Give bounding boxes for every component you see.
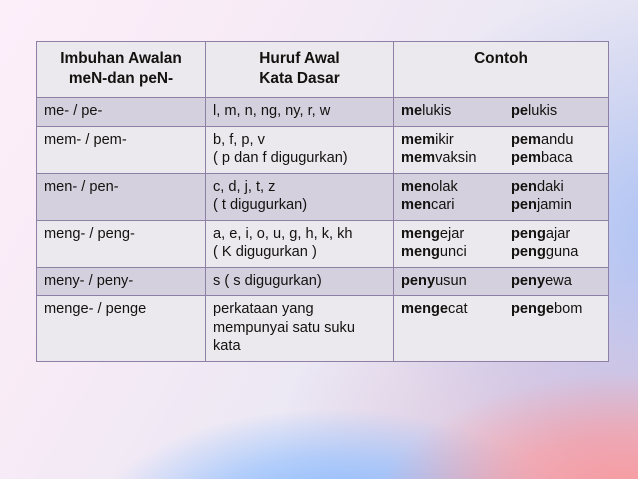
example-stem: olak xyxy=(431,179,458,195)
example-prefix-bold: peng xyxy=(511,244,546,260)
example-prefix-bold: meng xyxy=(401,244,440,260)
example-prefix-bold: meng xyxy=(401,226,440,242)
cell-letters: b, f, p, v ( p dan f digugurkan) xyxy=(206,126,394,173)
letters-line: b, f, p, v xyxy=(213,131,386,150)
example-men-form: melukis xyxy=(401,102,501,121)
example-prefix-bold: pen xyxy=(511,179,537,195)
example-stem: bom xyxy=(554,301,582,317)
example-row: mengunci pengguna xyxy=(401,243,601,262)
column-header-line-1: Contoh xyxy=(401,49,601,69)
example-pen-form: pengajar xyxy=(501,225,601,244)
slide-canvas: Imbuhan Awalan meN-dan peN- Huruf Awal K… xyxy=(0,0,638,479)
cell-examples: menolak pendaki mencari penjamin xyxy=(394,173,609,220)
letters-line: c, d, j, t, z xyxy=(213,178,386,197)
cell-letters: a, e, i, o, u, g, h, k, kh ( K digugurka… xyxy=(206,220,394,267)
examples-grid: mengecat pengebom xyxy=(401,300,601,319)
table-header: Imbuhan Awalan meN-dan peN- Huruf Awal K… xyxy=(37,42,609,98)
example-prefix-bold: pe xyxy=(511,103,528,119)
example-prefix-bold: peny xyxy=(401,273,435,289)
example-prefix-bold: menge xyxy=(401,301,448,317)
example-men-form: menolak xyxy=(401,178,501,197)
example-stem: jamin xyxy=(537,197,572,213)
letters-note: ( p dan f digugurkan) xyxy=(213,149,386,168)
example-prefix-bold: mem xyxy=(401,132,435,148)
column-header-huruf-awal: Huruf Awal Kata Dasar xyxy=(206,42,394,98)
example-row: memvaksin pembaca xyxy=(401,149,601,168)
cell-prefix: men- / pen- xyxy=(37,173,206,220)
letters-line: a, e, i, o, u, g, h, k, kh xyxy=(213,225,386,244)
column-header-line-1: Huruf Awal xyxy=(213,49,386,69)
example-men-form: mencari xyxy=(401,196,501,215)
example-prefix-bold: pem xyxy=(511,150,541,166)
letters-line: l, m, n, ng, ny, r, w xyxy=(213,102,386,121)
letters-note: ( K digugurkan ) xyxy=(213,243,386,262)
example-prefix-bold: me xyxy=(401,103,422,119)
cell-prefix: menge- / penge xyxy=(37,296,206,362)
table-row: meng- / peng- a, e, i, o, u, g, h, k, kh… xyxy=(37,220,609,267)
example-stem: baca xyxy=(541,150,573,166)
example-pen-form: penjamin xyxy=(501,196,601,215)
example-stem: daki xyxy=(537,179,564,195)
cell-prefix: meng- / peng- xyxy=(37,220,206,267)
example-prefix-bold: mem xyxy=(401,150,435,166)
example-prefix-bold: men xyxy=(401,179,431,195)
example-prefix-bold: penge xyxy=(511,301,554,317)
example-stem: lukis xyxy=(422,103,451,119)
letters-line: mempunyai satu suku xyxy=(213,319,386,338)
example-stem: cat xyxy=(448,301,467,317)
examples-grid: menolak pendaki mencari penjamin xyxy=(401,178,601,215)
example-stem: usun xyxy=(435,273,467,289)
cell-letters: c, d, j, t, z ( t digugurkan) xyxy=(206,173,394,220)
example-pen-form: pengguna xyxy=(501,243,601,262)
example-prefix-bold: peng xyxy=(511,226,546,242)
example-pen-form: penyewa xyxy=(501,272,601,291)
cell-examples: mengejar pengajar mengunci pengguna xyxy=(394,220,609,267)
example-stem: andu xyxy=(541,132,573,148)
cell-letters: s ( s digugurkan) xyxy=(206,267,394,296)
letters-line: kata xyxy=(213,337,386,356)
example-men-form: mengejar xyxy=(401,225,501,244)
column-header-line-1: Imbuhan Awalan xyxy=(44,49,198,69)
cell-letters: perkataan yang mempunyai satu suku kata xyxy=(206,296,394,362)
examples-grid: melukis pelukis xyxy=(401,102,601,121)
example-prefix-bold: men xyxy=(401,197,431,213)
table-row: men- / pen- c, d, j, t, z ( t digugurkan… xyxy=(37,173,609,220)
malay-prefix-table: Imbuhan Awalan meN-dan peN- Huruf Awal K… xyxy=(36,41,609,362)
example-prefix-bold: peny xyxy=(511,273,545,289)
column-header-line-2: meN-dan peN- xyxy=(44,69,198,89)
example-row: mengecat pengebom xyxy=(401,300,601,319)
column-header-line-2: Kata Dasar xyxy=(213,69,386,89)
example-prefix-bold: pen xyxy=(511,197,537,213)
example-men-form: mengecat xyxy=(401,300,501,319)
example-men-form: mengunci xyxy=(401,243,501,262)
example-row: menolak pendaki xyxy=(401,178,601,197)
letters-note: ( t digugurkan) xyxy=(213,196,386,215)
letters-line: perkataan yang xyxy=(213,300,386,319)
letters-line: s ( s digugurkan) xyxy=(213,272,386,291)
table-header-row: Imbuhan Awalan meN-dan peN- Huruf Awal K… xyxy=(37,42,609,98)
examples-grid: mengejar pengajar mengunci pengguna xyxy=(401,225,601,262)
example-stem: ajar xyxy=(546,226,570,242)
example-stem: unci xyxy=(440,244,467,260)
example-stem: guna xyxy=(546,244,578,260)
examples-grid: memikir pemandu memvaksin pembaca xyxy=(401,131,601,168)
table-body: me- / pe- l, m, n, ng, ny, r, w melukis … xyxy=(37,98,609,362)
example-row: mengejar pengajar xyxy=(401,225,601,244)
example-pen-form: pengebom xyxy=(501,300,601,319)
cell-prefix: me- / pe- xyxy=(37,98,206,127)
example-stem: ikir xyxy=(435,132,454,148)
example-row: mencari penjamin xyxy=(401,196,601,215)
example-pen-form: pembaca xyxy=(501,149,601,168)
example-stem: ejar xyxy=(440,226,464,242)
example-prefix-bold: pem xyxy=(511,132,541,148)
example-pen-form: pelukis xyxy=(501,102,601,121)
example-pen-form: pemandu xyxy=(501,131,601,150)
example-row: melukis pelukis xyxy=(401,102,601,121)
table-row: menge- / penge perkataan yang mempunyai … xyxy=(37,296,609,362)
column-header-contoh: Contoh xyxy=(394,42,609,98)
cell-prefix: mem- / pem- xyxy=(37,126,206,173)
example-stem: ewa xyxy=(545,273,572,289)
cell-examples: penyusun penyewa xyxy=(394,267,609,296)
example-row: memikir pemandu xyxy=(401,131,601,150)
examples-grid: penyusun penyewa xyxy=(401,272,601,291)
example-men-form: memvaksin xyxy=(401,149,501,168)
example-pen-form: pendaki xyxy=(501,178,601,197)
cell-examples: melukis pelukis xyxy=(394,98,609,127)
cell-prefix: meny- / peny- xyxy=(37,267,206,296)
table-row: mem- / pem- b, f, p, v ( p dan f digugur… xyxy=(37,126,609,173)
example-row: penyusun penyewa xyxy=(401,272,601,291)
example-stem: cari xyxy=(431,197,455,213)
cell-examples: mengecat pengebom xyxy=(394,296,609,362)
example-stem: lukis xyxy=(528,103,557,119)
example-men-form: memikir xyxy=(401,131,501,150)
table-row: meny- / peny- s ( s digugurkan) penyusun… xyxy=(37,267,609,296)
table-row: me- / pe- l, m, n, ng, ny, r, w melukis … xyxy=(37,98,609,127)
example-men-form: penyusun xyxy=(401,272,501,291)
column-header-imbuhan-awalan: Imbuhan Awalan meN-dan peN- xyxy=(37,42,206,98)
prefix-table-container: Imbuhan Awalan meN-dan peN- Huruf Awal K… xyxy=(36,41,608,393)
cell-examples: memikir pemandu memvaksin pembaca xyxy=(394,126,609,173)
example-stem: vaksin xyxy=(435,150,476,166)
cell-letters: l, m, n, ng, ny, r, w xyxy=(206,98,394,127)
